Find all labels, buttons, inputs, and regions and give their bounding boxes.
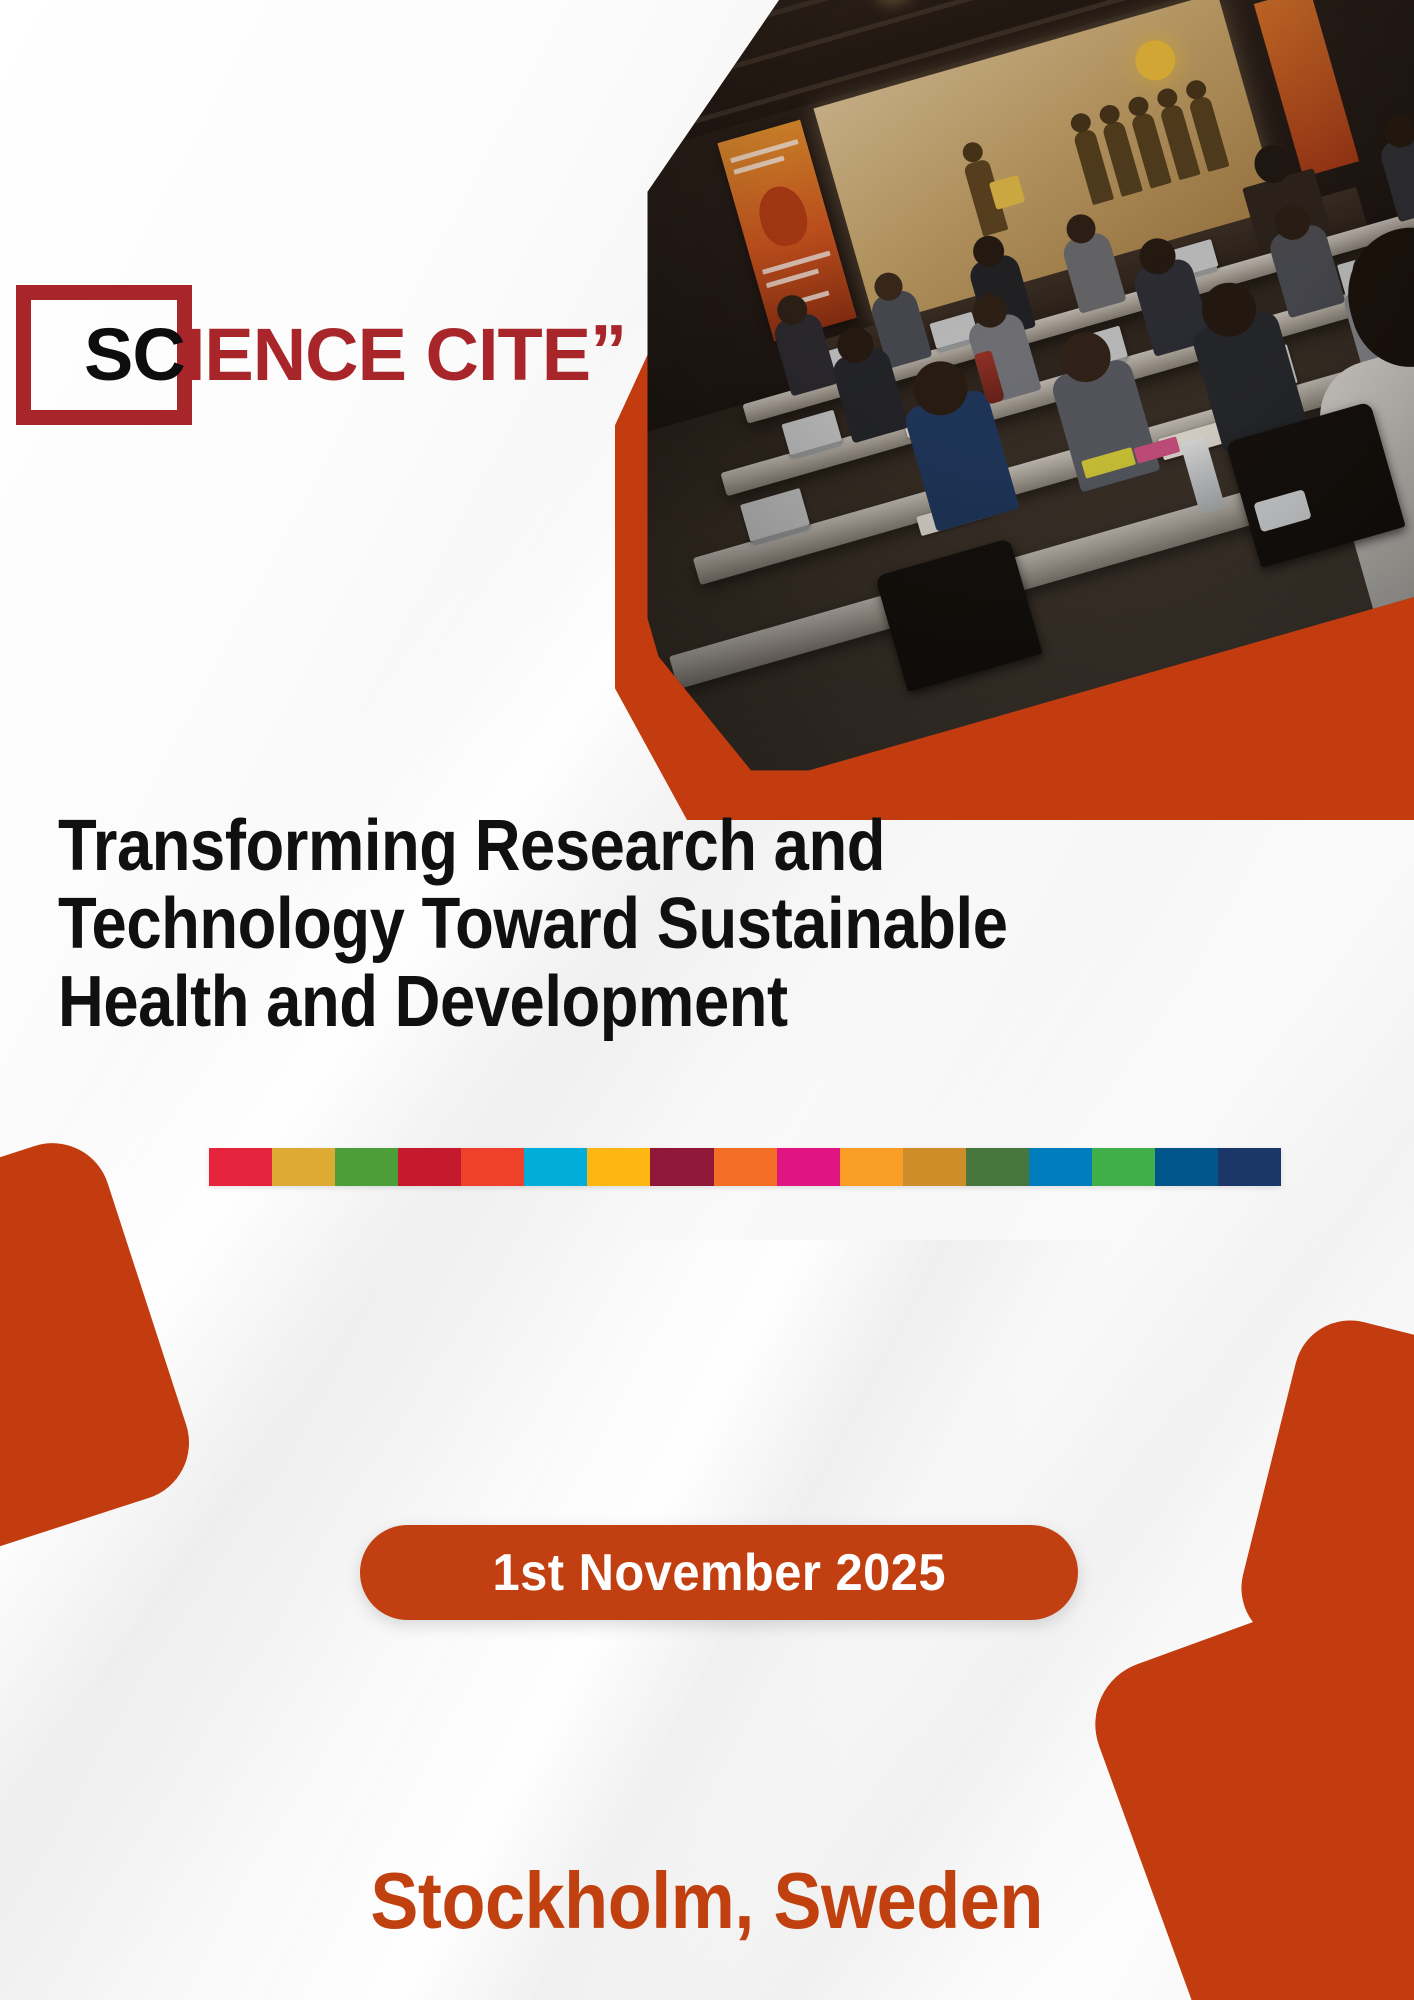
sdg-color-segment-5 — [461, 1148, 524, 1186]
sdg-color-bar — [209, 1148, 1281, 1186]
sdg-color-segment-9 — [714, 1148, 777, 1186]
sdg-color-segment-6 — [524, 1148, 587, 1186]
sdg-color-segment-17 — [1218, 1148, 1281, 1186]
sdg-color-segment-3 — [335, 1148, 398, 1186]
decorative-shape-left — [0, 1128, 204, 1582]
sdg-color-segment-13 — [966, 1148, 1029, 1186]
logo-wordmark: SCIENCE CITE” — [84, 318, 626, 392]
sdg-color-segment-7 — [587, 1148, 650, 1186]
hero-photo-assembly — [705, 0, 1414, 780]
poster-title-line-2: Technology Toward Sustainable — [58, 886, 1052, 964]
sdg-color-segment-12 — [903, 1148, 966, 1186]
photo-frame-mask — [625, 0, 1414, 780]
poster-clip-layer: SCIENCE CITE” Transforming Research and … — [0, 0, 1414, 2000]
photo-vignette — [625, 0, 1414, 780]
event-location: Stockholm, Sweden — [0, 1855, 1414, 1947]
event-location-label: Stockholm, Sweden — [371, 1855, 1043, 1947]
brand-logo[interactable]: SCIENCE CITE” — [16, 285, 626, 425]
sdg-color-segment-8 — [650, 1148, 713, 1186]
event-date-label: 1st November 2025 — [492, 1543, 946, 1603]
photo-pendant-light — [625, 0, 640, 44]
sdg-color-segment-16 — [1155, 1148, 1218, 1186]
poster-title: Transforming Research and Technology Tow… — [58, 808, 1052, 1041]
sdg-color-segment-1 — [209, 1148, 272, 1186]
sdg-color-segment-15 — [1092, 1148, 1155, 1186]
sdg-color-segment-14 — [1029, 1148, 1092, 1186]
poster-canvas: SCIENCE CITE” Transforming Research and … — [0, 0, 1414, 2000]
sdg-color-segment-11 — [840, 1148, 903, 1186]
conference-hall-photo — [625, 0, 1414, 780]
logo-quote-icon: ” — [590, 309, 626, 392]
logo-wordmark-red: IENCE CITE — [185, 313, 590, 396]
sdg-color-segment-4 — [398, 1148, 461, 1186]
sdg-color-segment-2 — [272, 1148, 335, 1186]
event-date-badge[interactable]: 1st November 2025 — [360, 1525, 1078, 1620]
sdg-color-segment-10 — [777, 1148, 840, 1186]
poster-title-line-1: Transforming Research and — [58, 808, 1052, 886]
poster-title-line-3: Health and Development — [58, 964, 1052, 1042]
logo-wordmark-dark: SC — [84, 313, 185, 396]
